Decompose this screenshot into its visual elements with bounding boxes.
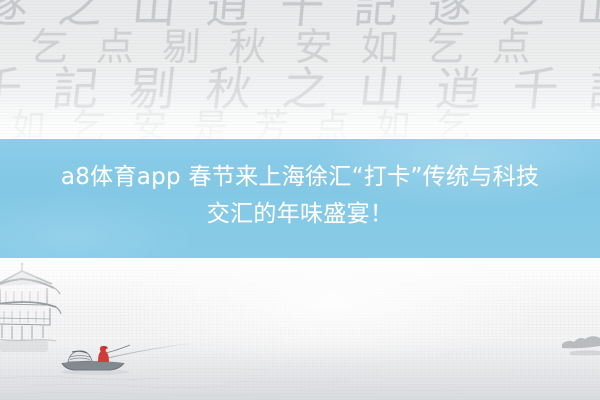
- calligraphy-row: 点 如 乞 安 是 芳 点 如 乞: [0, 110, 581, 139]
- painting-artwork: [0, 258, 600, 400]
- calligraphy-background-band: 遂 之 山 逍 千 記 遂 之 山 如 乞 点 剔 秋 安 如 乞 点 千 記 …: [0, 0, 600, 139]
- headline-text: a8体育app 春节来上海徐汇“打卡”传统与科技 交汇的年味盛宴！: [0, 159, 600, 233]
- headline-line-2: 交汇的年味盛宴！: [14, 196, 586, 233]
- pavilion-reflection: [0, 340, 48, 352]
- headline-banner: a8体育app 春节来上海徐汇“打卡”传统与科技 交汇的年味盛宴！: [0, 139, 600, 258]
- calligraphy-ink-layer: 遂 之 山 逍 千 記 遂 之 山 如 乞 点 剔 秋 安 如 乞 点 千 記 …: [0, 0, 600, 139]
- ink-wash-painting: [0, 258, 600, 400]
- headline-line-1: a8体育app 春节来上海徐汇“打卡”传统与科技: [14, 159, 586, 196]
- boat-reflection: [61, 369, 129, 375]
- screenshot-root: 遂 之 山 逍 千 記 遂 之 山 如 乞 点 剔 秋 安 如 乞 点 千 記 …: [0, 0, 600, 400]
